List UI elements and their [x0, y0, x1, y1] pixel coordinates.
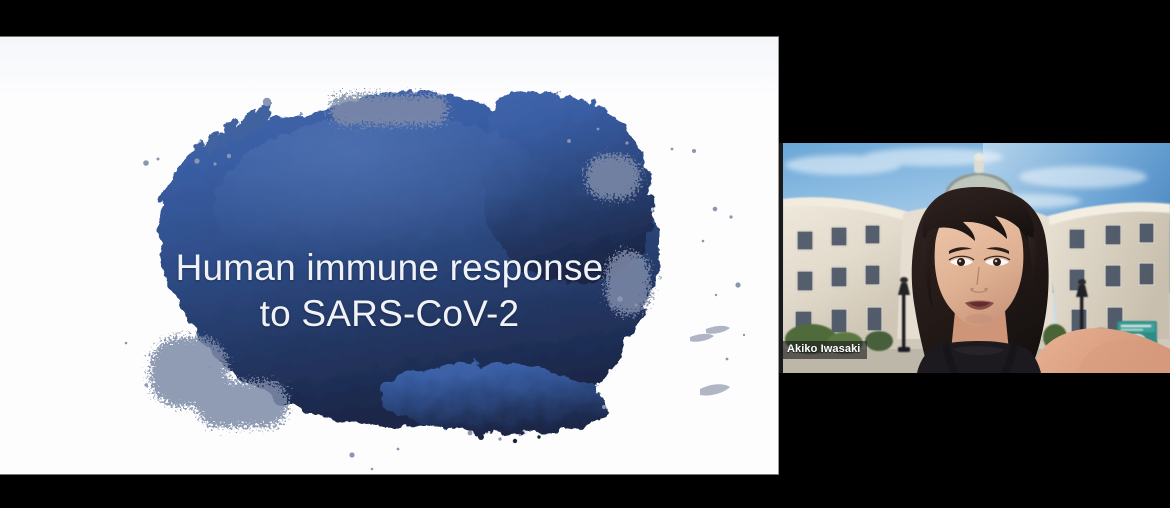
slide-edge-bottom: [0, 474, 779, 475]
participant-name-badge: Akiko Iwasaki: [783, 341, 867, 359]
shared-slide[interactable]: Human immune response to SARS-CoV-2: [0, 37, 779, 474]
slide-title: Human immune response to SARS-CoV-2: [0, 245, 779, 337]
screen-share-view: Human immune response to SARS-CoV-2: [0, 0, 1170, 508]
speaker-video-tile[interactable]: Akiko Iwasaki: [783, 143, 1170, 373]
video-feed: [783, 143, 1170, 373]
